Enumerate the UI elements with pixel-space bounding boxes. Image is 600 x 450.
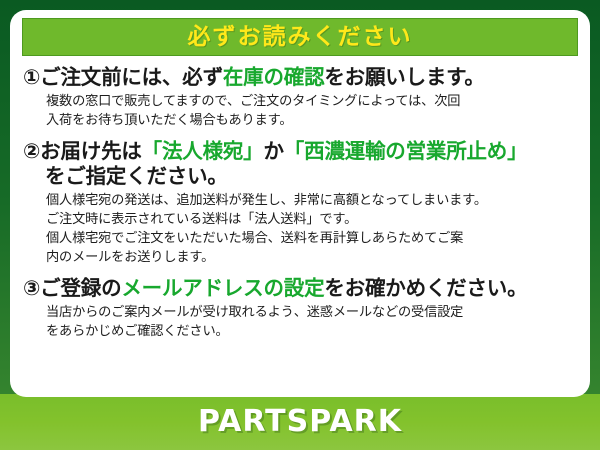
section-2-heading-highlight-2: 「西濃運輸の営業所止め」 [284, 139, 528, 163]
section-2-body-line: 個人様宅宛でご注文をいただいた場合、送料を再計算しあらためてご案 [46, 230, 577, 249]
section-1-marker: ① [23, 65, 40, 89]
section-1-heading-part-0: ご注文前には、必ず [40, 65, 223, 89]
section-3-heading-highlight: メールアドレスの設定 [121, 276, 324, 300]
section-3-body-line: 当店からのご案内メールが受け取れるよう、迷惑メールなどの受信設定 [46, 304, 577, 323]
section-2-heading-part-0: お届け先は [40, 139, 142, 163]
section-2-body-line: 内のメールをお送りします。 [46, 249, 577, 268]
section-2-marker: ② [23, 139, 40, 163]
section-1: ①ご注文前には、必ず在庫の確認をお願いします。 複数の窓口で販売してますので、ご… [23, 65, 577, 130]
section-3-heading-part-2: をお確かめください。 [324, 276, 527, 300]
section-3-body-line: をあらかじめご確認ください。 [46, 323, 577, 342]
section-2-heading-line2: をご指定ください。 [23, 164, 577, 189]
section-1-body-line: 複数の窓口で販売してますので、ご注文のタイミングによっては、次回 [46, 93, 577, 112]
section-1-heading-highlight: 在庫の確認 [223, 65, 325, 89]
notice-panel: 必ずお読みください ①ご注文前には、必ず在庫の確認をお願いします。 複数の窓口で… [10, 10, 590, 397]
section-3-heading: ③ご登録のメールアドレスの設定をお確かめください。 [23, 276, 577, 301]
header-banner: 必ずお読みください [22, 18, 578, 56]
section-3-body: 当店からのご案内メールが受け取れるよう、迷惑メールなどの受信設定 をあらかじめご… [23, 304, 577, 341]
section-3-marker: ③ [23, 276, 40, 300]
section-2: ②お届け先は「法人様宛」か「西濃運輸の営業所止め」 をご指定ください。 個人様宅… [23, 139, 577, 267]
notice-card: PARTSPARK 必ずお読みください ①ご注文前には、必ず在庫の確認をお願いし… [0, 0, 600, 450]
brand-logo: PARTSPARK [198, 407, 402, 437]
sections-container: ①ご注文前には、必ず在庫の確認をお願いします。 複数の窓口で販売してますので、ご… [19, 65, 581, 342]
section-1-heading-part-2: をお願いします。 [324, 65, 484, 89]
section-2-heading-highlight-1: 「法人様宛」 [142, 139, 264, 163]
section-2-body-line: ご注文時に表示されている送料は「法人送料」です。 [46, 211, 577, 230]
section-1-heading: ①ご注文前には、必ず在庫の確認をお願いします。 [23, 65, 577, 90]
section-1-body: 複数の窓口で販売してますので、ご注文のタイミングによっては、次回 入荷をお待ち頂… [23, 93, 577, 130]
section-2-body-line: 個人様宅宛の発送は、追加送料が発生し、非常に高額となってしまいます。 [46, 192, 577, 211]
page-title: 必ずお読みください [188, 26, 413, 49]
footer-band: PARTSPARK [0, 394, 600, 450]
section-2-heading: ②お届け先は「法人様宛」か「西濃運輸の営業所止め」 をご指定ください。 [23, 139, 577, 189]
section-2-heading-part-2: か [263, 139, 283, 163]
section-1-body-line: 入荷をお待ち頂いただく場合もあります。 [46, 112, 577, 131]
section-3-heading-part-0: ご登録の [40, 276, 121, 300]
section-2-body: 個人様宅宛の発送は、追加送料が発生し、非常に高額となってしまいます。 ご注文時に… [23, 192, 577, 267]
section-3: ③ご登録のメールアドレスの設定をお確かめください。 当店からのご案内メールが受け… [23, 276, 577, 341]
